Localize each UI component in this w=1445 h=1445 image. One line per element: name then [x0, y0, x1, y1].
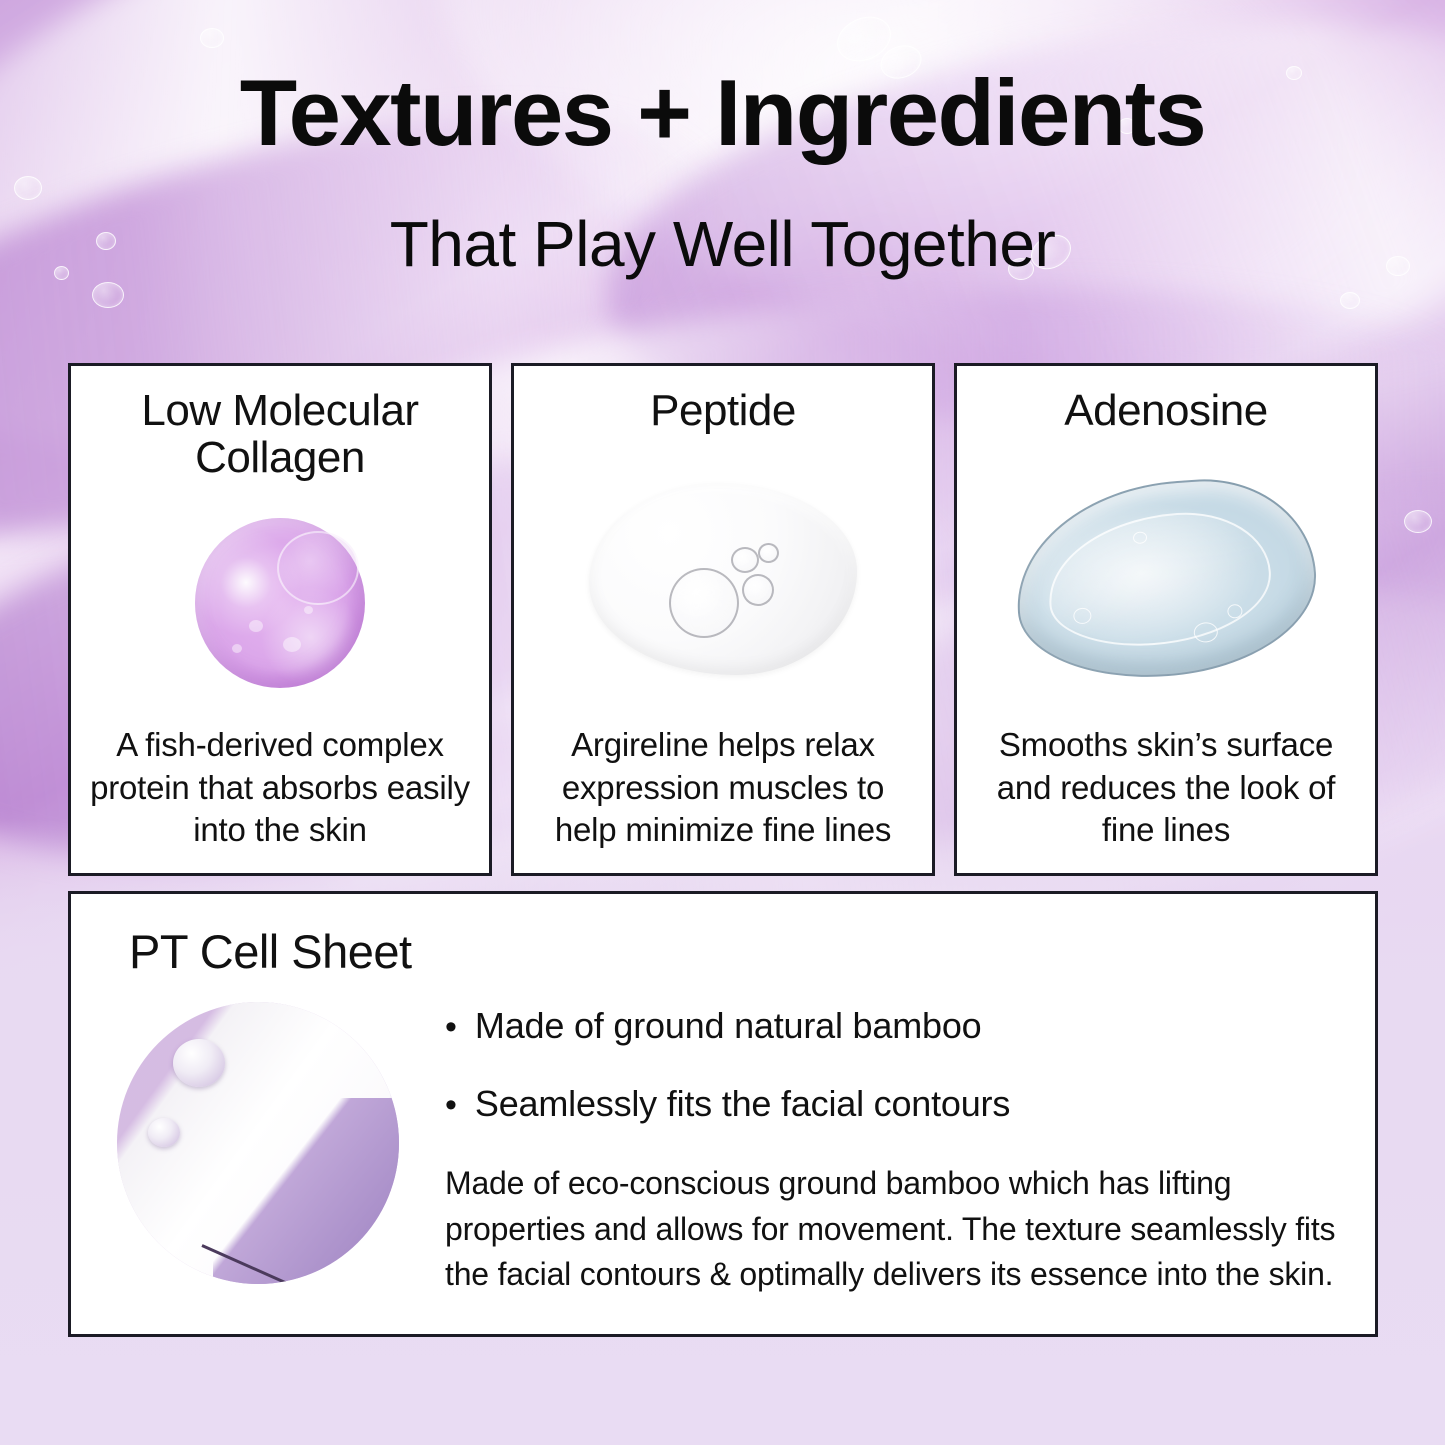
collagen-bubble-image — [89, 481, 471, 724]
ingredient-card-adenosine[interactable]: Adenosine Smooths skin’s surface and red… — [954, 363, 1378, 876]
panel-paragraph: Made of eco-conscious ground bamboo whic… — [445, 1161, 1341, 1297]
panel-body: • Made of ground natural bamboo • Seamle… — [117, 1000, 1341, 1308]
adenosine-gel-image — [975, 435, 1357, 725]
sheet-mask-photo — [117, 1002, 399, 1284]
card-title: Peptide — [650, 388, 796, 435]
card-title: Adenosine — [1064, 388, 1267, 435]
ingredient-card-list: Low Molecular Collagen A fish-derived co… — [68, 363, 1378, 876]
card-title: Low Molecular Collagen — [89, 388, 471, 481]
purple-sphere-icon — [195, 518, 365, 688]
content-layer: Textures + Ingredients That Play Well To… — [0, 0, 1445, 1445]
list-item-label: Seamlessly fits the facial contours — [475, 1084, 1010, 1124]
sheet-fold — [213, 1098, 399, 1284]
ingredient-card-collagen[interactable]: Low Molecular Collagen A fish-derived co… — [68, 363, 492, 876]
page-title: Textures + Ingredients — [0, 66, 1445, 160]
panel-title: PT Cell Sheet — [129, 924, 412, 979]
blue-gel-droplet-icon — [1010, 472, 1323, 686]
card-description: A fish-derived complex protein that abso… — [89, 724, 471, 857]
infographic-page: Textures + Ingredients That Play Well To… — [0, 0, 1445, 1445]
droplet-small-icon — [148, 1118, 180, 1147]
ingredient-card-peptide[interactable]: Peptide Argireline helps relax expressio… — [511, 363, 935, 876]
white-gel-blob-icon — [589, 483, 857, 675]
droplet-large-icon — [173, 1039, 225, 1087]
card-description: Smooths skin’s surface and reduces the l… — [975, 724, 1357, 857]
list-item-label: Made of ground natural bamboo — [475, 1006, 982, 1046]
pt-cell-sheet-panel[interactable]: PT Cell Sheet • Made of ground natural b… — [68, 891, 1378, 1337]
bullet-dot-icon: • — [445, 1010, 457, 1044]
page-subtitle: That Play Well Together — [0, 212, 1445, 276]
list-item: • Made of ground natural bamboo — [445, 1006, 1341, 1046]
list-item: • Seamlessly fits the facial contours — [445, 1084, 1341, 1124]
card-description: Argireline helps relax expression muscle… — [532, 724, 914, 857]
peptide-gel-image — [532, 435, 914, 725]
bullet-dot-icon: • — [445, 1088, 457, 1122]
panel-text-block: • Made of ground natural bamboo • Seamle… — [399, 1000, 1341, 1298]
